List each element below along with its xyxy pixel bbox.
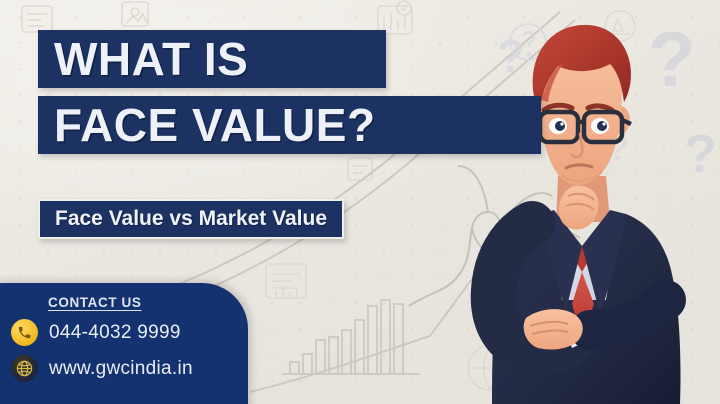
subtitle-text: Face Value vs Market Value — [55, 207, 327, 231]
phone-icon — [11, 319, 38, 346]
title-banner-line2: FACE VALUE? — [38, 96, 541, 154]
businessman-illustration — [470, 0, 720, 404]
globe-icon — [11, 355, 38, 382]
contact-website-row[interactable]: www.gwcindia.in — [11, 355, 248, 382]
contact-heading: CONTACT US — [48, 295, 248, 310]
contact-card-content: CONTACT US 044-4032 9999 — [0, 283, 248, 404]
contact-card: CONTACT US 044-4032 9999 — [0, 283, 248, 404]
title-line2-text: FACE VALUE? — [54, 98, 376, 152]
title-line1-text: WHAT IS — [54, 32, 248, 86]
title-banner-line1: WHAT IS — [38, 30, 386, 88]
contact-website-url: www.gwcindia.in — [49, 358, 193, 380]
contact-phone-number: 044-4032 9999 — [49, 322, 181, 344]
contact-phone-row[interactable]: 044-4032 9999 — [11, 319, 248, 346]
subtitle-banner: Face Value vs Market Value — [38, 199, 344, 239]
poster-canvas: ? ? ? ? — [0, 0, 720, 404]
